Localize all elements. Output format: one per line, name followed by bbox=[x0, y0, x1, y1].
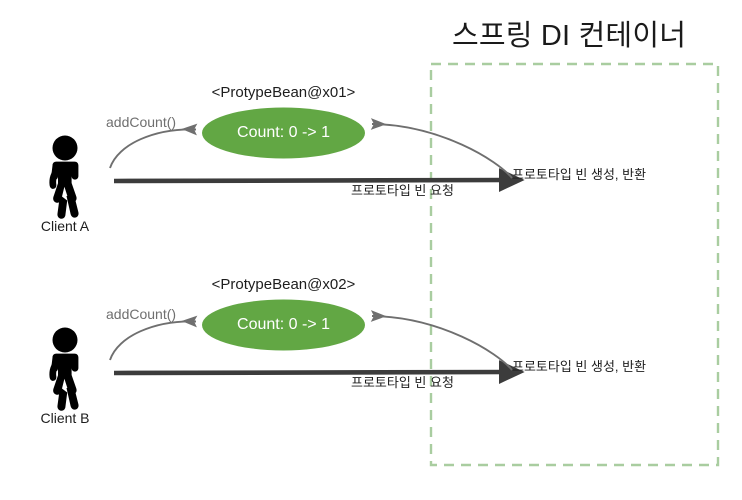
diagram-canvas: 스프링 DI 컨테이너 <ProtypeBean@x01> Count: 0 -… bbox=[0, 0, 742, 500]
request-arrow-1 bbox=[114, 180, 509, 181]
client-label-b: Client B bbox=[25, 411, 105, 425]
add-count-label-2: addCount() bbox=[106, 307, 176, 321]
client-label-a: Client A bbox=[25, 219, 105, 233]
add-count-arrow-2 bbox=[110, 321, 196, 360]
client-b-person-icon bbox=[49, 328, 78, 411]
request-arrow-2 bbox=[114, 372, 509, 373]
spring-di-container-boundary bbox=[431, 64, 718, 465]
request-label-2: 프로토타입 빈 요청 bbox=[351, 376, 454, 389]
container-title: 스프링 DI 컨테이너 bbox=[452, 22, 686, 51]
bean-count-label-1: Count: 0 -> 1 bbox=[203, 125, 364, 141]
bean-id-label-1: <ProtypeBean@x01> bbox=[203, 85, 364, 100]
bean-count-label-2: Count: 0 -> 1 bbox=[203, 317, 364, 333]
request-label-1: 프로토타입 빈 요청 bbox=[351, 184, 454, 197]
return-label-1: 프로토타입 빈 생성, 반환 bbox=[512, 168, 646, 181]
add-count-label-1: addCount() bbox=[106, 115, 176, 129]
bean-id-label-2: <ProtypeBean@x02> bbox=[203, 277, 364, 292]
return-arrow-2 bbox=[372, 316, 512, 370]
return-arrow-1 bbox=[372, 124, 512, 178]
diagram-vector-layer bbox=[0, 0, 742, 500]
return-label-2: 프로토타입 빈 생성, 반환 bbox=[512, 360, 646, 373]
add-count-arrow-1 bbox=[110, 129, 196, 168]
client-a-person-icon bbox=[49, 136, 78, 219]
